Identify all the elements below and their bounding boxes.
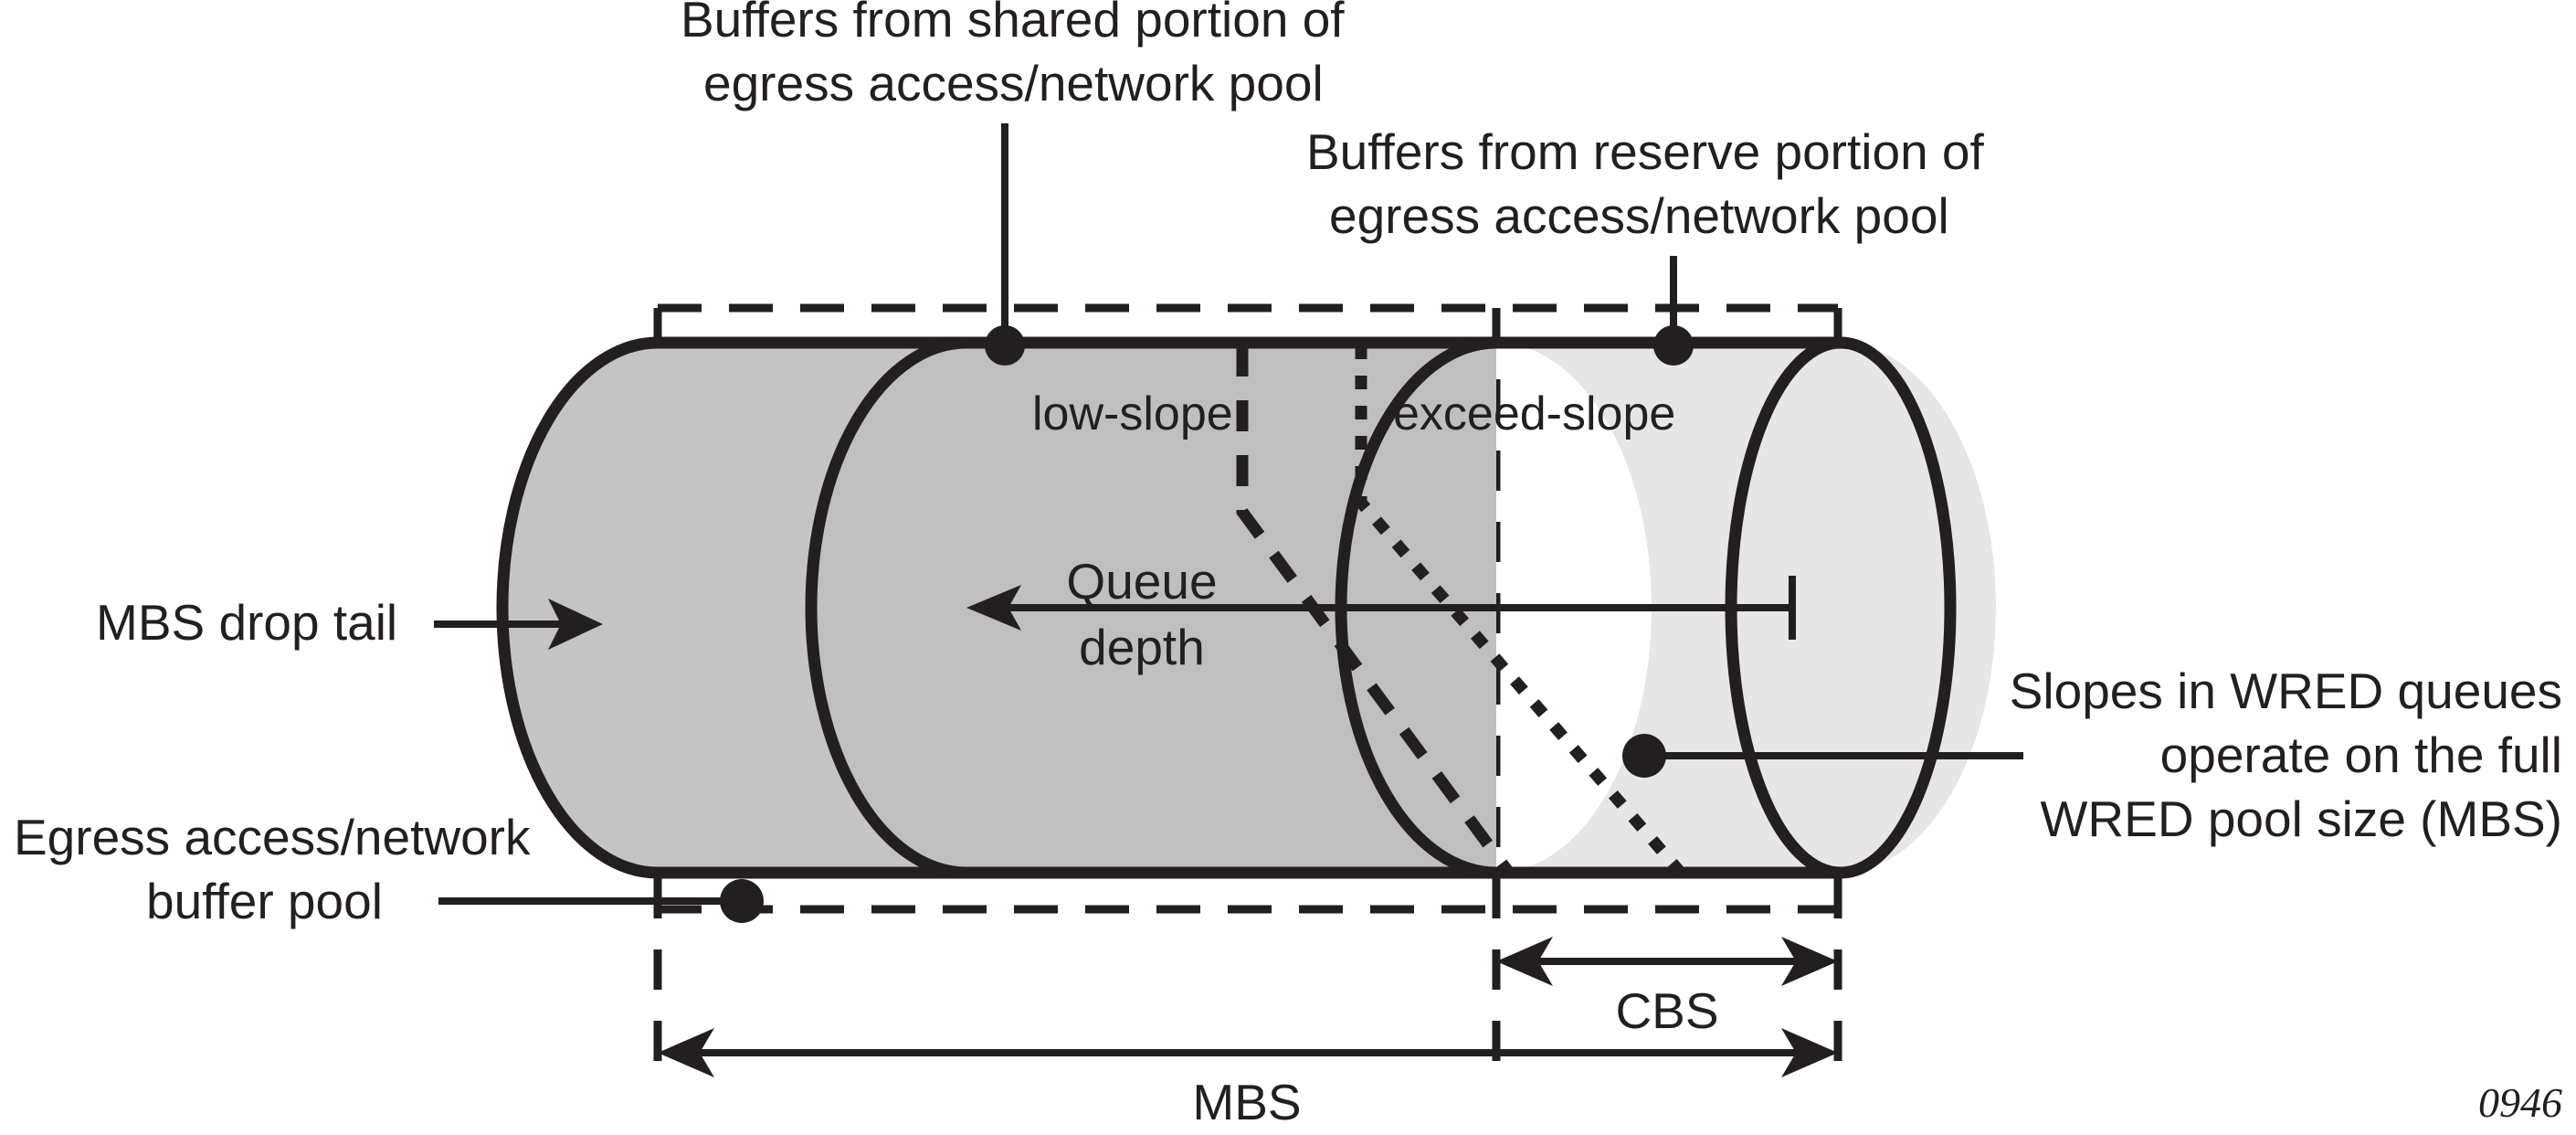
reserve-callout-line2: egress access/network pool (1329, 187, 1949, 244)
slopes-note-line1: Slopes in WRED queues (2010, 663, 2562, 719)
queue-depth-label-line1: Queue (1066, 553, 1217, 610)
shared-callout-dot (985, 325, 1025, 366)
reserve-portion-callout: Buffers from reserve portion of egress a… (1306, 123, 1985, 366)
shared-callout-line2: egress access/network pool (703, 55, 1324, 111)
shared-callout-line1: Buffers from shared portion of (681, 0, 1345, 48)
exceed-slope-label: exceed-slope (1393, 387, 1675, 440)
slopes-note-line2: operate on the full (2160, 727, 2562, 783)
low-slope-label: low-slope (1032, 387, 1233, 440)
cbs-dimension-label: CBS (1615, 982, 1718, 1039)
reserve-callout-dot (1653, 325, 1694, 366)
mbs-drop-tail-label: MBS drop tail (96, 594, 397, 651)
egress-pool-dot (720, 879, 764, 923)
mbs-dimension: MBS (658, 1028, 1838, 1130)
figure-id-label: 0946 (2478, 1079, 2562, 1126)
cbs-dimension: CBS (1496, 937, 1838, 1039)
slopes-note-line3: WRED pool size (MBS) (2041, 790, 2562, 847)
reserve-callout-line1: Buffers from reserve portion of (1306, 123, 1985, 180)
mbs-dimension-label: MBS (1192, 1074, 1301, 1130)
egress-pool-label-line1: Egress access/network (14, 809, 531, 865)
queue-depth-label-line2: depth (1079, 619, 1205, 675)
wred-queue-buffer-pool-diagram: Buffers from shared portion of egress ac… (0, 0, 2576, 1135)
egress-pool-label-line2: buffer pool (146, 873, 383, 929)
slopes-note-dot (1622, 734, 1666, 778)
